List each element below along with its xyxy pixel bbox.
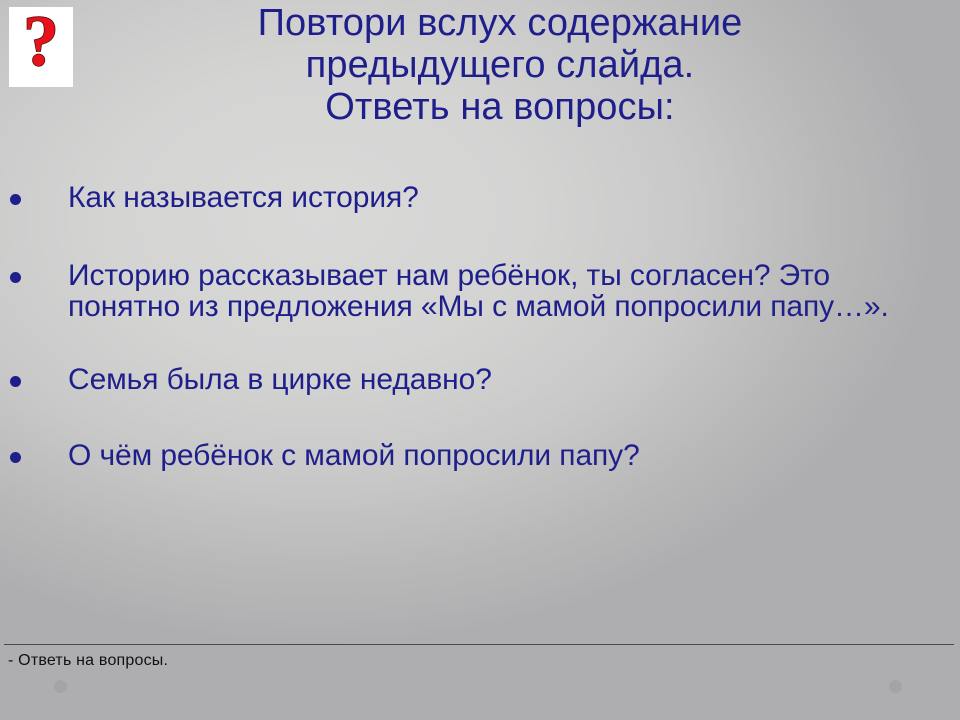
question-list: Как называется история? Историю рассказы… bbox=[0, 182, 940, 476]
list-item-text: Историю рассказывает нам ребёнок, ты сог… bbox=[68, 260, 930, 322]
footer-note: - Ответь на вопросы. bbox=[8, 651, 168, 671]
bullet-icon bbox=[10, 272, 21, 283]
svg-text:?: ? bbox=[23, 7, 59, 81]
bullet-icon bbox=[10, 194, 21, 205]
list-item: Как называется история? bbox=[0, 182, 940, 218]
bullet-icon bbox=[10, 452, 21, 463]
list-item-text: Как называется история? bbox=[68, 182, 930, 213]
slide-title: Повтори вслух содержание предыдущего сла… bbox=[120, 2, 880, 128]
decorative-dot-left bbox=[54, 680, 67, 693]
bullet-icon bbox=[10, 376, 21, 387]
question-mark-image: ? bbox=[9, 7, 73, 87]
list-item: О чём ребёнок с мамой попросили папу? bbox=[0, 440, 940, 476]
list-item-text: Семья была в цирке недавно? bbox=[68, 364, 930, 395]
question-mark-icon: ? bbox=[9, 7, 73, 87]
list-item: Семья была в цирке недавно? bbox=[0, 364, 940, 400]
slide-canvas: ? Повтори вслух содержание предыдущего с… bbox=[0, 0, 960, 720]
list-item-text: О чём ребёнок с мамой попросили папу? bbox=[68, 440, 930, 471]
list-item: Историю рассказывает нам ребёнок, ты сог… bbox=[0, 260, 940, 322]
decorative-dot-right bbox=[889, 680, 902, 693]
footer-divider bbox=[4, 644, 954, 645]
